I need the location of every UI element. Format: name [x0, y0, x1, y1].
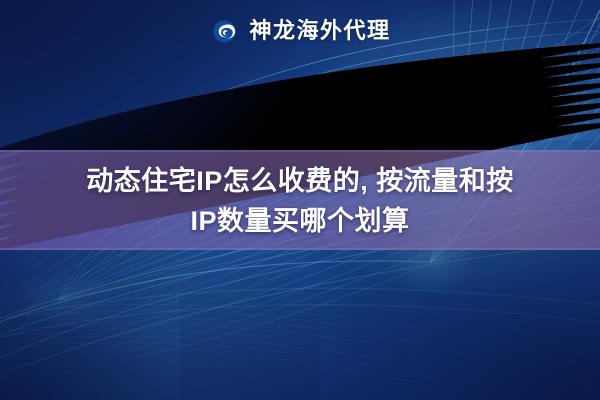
band-bottom-edge	[0, 248, 600, 250]
brand-logo: 神龙海外代理	[0, 8, 600, 54]
band-top-edge	[0, 150, 600, 152]
brand-name-text: 神龙海外代理	[249, 20, 390, 42]
headline-line-1: 动态住宅IP怎么收费的, 按流量和按	[86, 162, 514, 200]
headline-text-block: 动态住宅IP怎么收费的, 按流量和按 IP数量买哪个划算	[0, 155, 600, 247]
dragon-swirl-logo-icon	[209, 16, 240, 47]
headline-line-2: IP数量买哪个划算	[190, 202, 409, 240]
promo-banner: 神龙海外代理 动态住宅IP怎么收费的, 按流量和按 IP数量买哪个划算	[0, 0, 600, 400]
